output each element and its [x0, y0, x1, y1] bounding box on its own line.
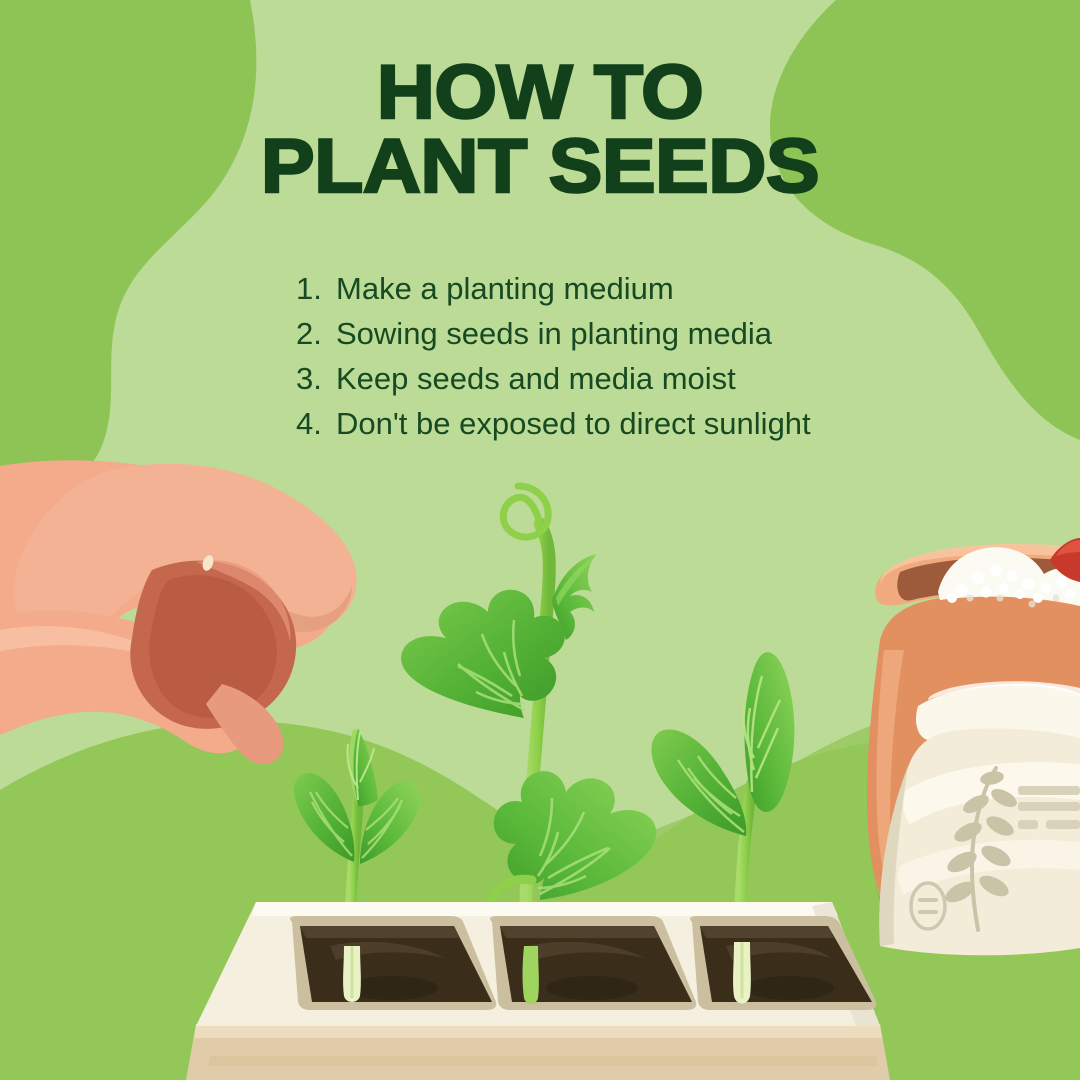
list-item: 2. Sowing seeds in planting media: [296, 311, 936, 356]
step-number: 2.: [296, 311, 336, 356]
steps-list: 1. Make a planting medium 2. Sowing seed…: [296, 266, 936, 446]
list-item: 1. Make a planting medium: [296, 266, 936, 311]
title-line-1: HOW TO: [0, 56, 1080, 130]
step-number: 3.: [296, 356, 336, 401]
list-item: 4. Don't be exposed to direct sunlight: [296, 401, 936, 446]
step-text: Make a planting medium: [336, 266, 936, 311]
step-number: 1.: [296, 266, 336, 311]
step-number: 4.: [296, 401, 336, 446]
poster-canvas: HOW TO PLANT SEEDS 1. Make a planting me…: [0, 0, 1080, 1080]
title-line-2: PLANT SEEDS: [0, 130, 1080, 204]
step-text: Sowing seeds in planting media: [336, 311, 936, 356]
step-text: Don't be exposed to direct sunlight: [336, 401, 936, 446]
list-item: 3. Keep seeds and media moist: [296, 356, 936, 401]
step-text: Keep seeds and media moist: [336, 356, 936, 401]
page-title: HOW TO PLANT SEEDS: [0, 56, 1080, 205]
